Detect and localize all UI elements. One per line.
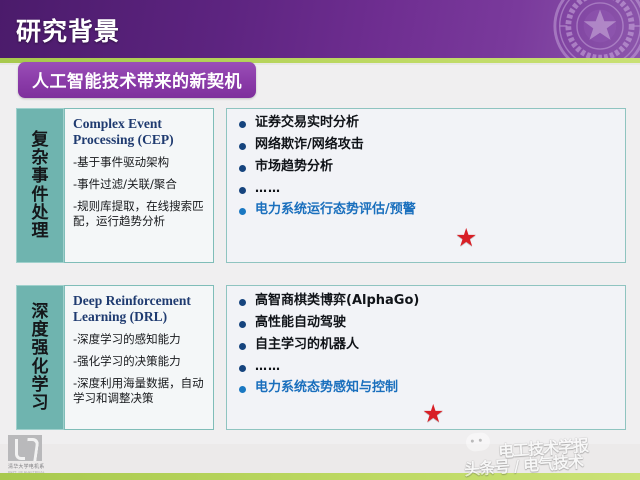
list-item: 高智商棋类博弈(AlphaGo) [235,294,450,309]
tsinghua-university-seal-icon [552,0,640,58]
list-item-label: 市场趋势分析 [255,160,333,175]
list-item: 高性能自动驾驶 [235,316,450,331]
list-item-highlighted: 电力系统运行态势评估/预警 [235,203,450,218]
definition-title-cep: Complex Event Processing (CEP) [73,116,206,149]
bullet-dot-icon [239,187,246,194]
list-item-label: …… [255,360,281,374]
definition-box-drl: Deep Reinforcement Learning (DRL) -深度学习的… [64,285,214,430]
star-icon-cep: ★ [455,226,477,251]
list-item: 市场趋势分析 [235,160,450,175]
slide-footer [0,444,640,475]
section-subtitle-pill: 人工智能技术带来的新契机 [18,62,256,98]
list-item-label: 自主学习的机器人 [255,338,359,353]
definition-item: -事件过滤/关联/聚合 [73,177,206,192]
bullet-dot-icon [239,299,246,306]
bullet-dot-icon [239,386,246,393]
bullet-dot-icon [239,208,246,215]
bullet-dot-icon [239,321,246,328]
bullet-list-drl: 高智商棋类博弈(AlphaGo) 高性能自动驾驶 自主学习的机器人 …… 电力系… [235,294,450,403]
definition-title-drl: Deep Reinforcement Learning (DRL) [73,293,206,326]
definition-item: -基于事件驱动架构 [73,155,206,170]
logo-mark-icon [8,435,42,461]
list-item-label: 网络欺诈/网络攻击 [255,138,364,153]
row-tag-drl-label: 深度强化学习 [28,303,52,411]
content-box-cep: 证券交易实时分析 网络欺诈/网络攻击 市场趋势分析 …… 电力系统运行态势评估/… [226,108,626,263]
list-item: …… [235,360,450,374]
list-item-label: 证券交易实时分析 [255,116,359,131]
list-item-label: 电力系统运行态势评估/预警 [255,203,416,218]
list-item: 证券交易实时分析 [235,116,450,131]
definition-item: -深度学习的感知能力 [73,332,206,347]
tsinghua-electrical-engineering-logo: 清华大学电机系 DEPT. OF ELECTRICAL ENGINEERING [8,435,52,475]
list-item-label: 电力系统态势感知与控制 [255,381,398,396]
slide-header: 研究背景 [0,0,640,58]
bullet-dot-icon [239,343,246,350]
definition-item: -规则库提取，在线搜索匹配，运行趋势分析 [73,199,206,229]
bullet-dot-icon [239,365,246,372]
list-item-label: …… [255,182,281,196]
star-icon-drl: ★ [422,402,444,427]
bullet-dot-icon [239,143,246,150]
list-item-highlighted: 电力系统态势感知与控制 [235,381,450,396]
list-item-label: 高智商棋类博弈(AlphaGo) [255,294,419,309]
footer-accent-rule [0,473,640,480]
list-item: …… [235,182,450,196]
list-item: 网络欺诈/网络攻击 [235,138,450,153]
list-item-label: 高性能自动驾驶 [255,316,346,331]
definition-item: -强化学习的决策能力 [73,354,206,369]
definition-item: -深度利用海量数据，自动学习和调整决策 [73,376,206,406]
page-title: 研究背景 [16,12,120,48]
bullet-list-cep: 证券交易实时分析 网络欺诈/网络攻击 市场趋势分析 …… 电力系统运行态势评估/… [235,116,450,225]
row-tag-cep-label: 复杂事件处理 [28,131,52,239]
logo-text: 清华大学电机系 [8,463,52,470]
row-tag-cep: 复杂事件处理 [16,108,64,263]
slide: 研究背景 人工智能技术带来的新契机 复杂事件处理 Complex Event P… [0,0,640,480]
bullet-dot-icon [239,121,246,128]
list-item: 自主学习的机器人 [235,338,450,353]
row-tag-drl: 深度强化学习 [16,285,64,430]
definition-box-cep: Complex Event Processing (CEP) -基于事件驱动架构… [64,108,214,263]
bullet-dot-icon [239,165,246,172]
